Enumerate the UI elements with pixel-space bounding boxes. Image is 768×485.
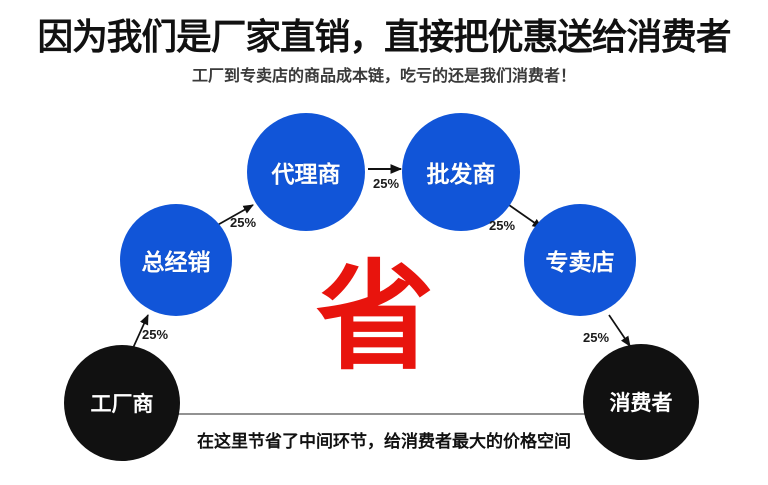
node-label-consumer: 消费者 [610, 387, 673, 417]
node-label-wholesaler: 批发商 [427, 155, 496, 189]
markup-label-agent-to-wholesaler: 25% [373, 176, 399, 191]
supply-chain-diagram: 工厂商总经销代理商批发商专卖店消费者 25%25%25%25%25% 省 [0, 0, 768, 485]
markup-label-wholesaler-to-store: 25% [489, 218, 515, 233]
node-label-agent: 代理商 [272, 155, 341, 189]
promo-banner: 因为我们是厂家直销，直接把优惠送给消费者 工厂到专卖店的商品成本链，吃亏的还是我… [0, 0, 768, 485]
node-label-factory: 工厂商 [91, 388, 154, 418]
node-store: 专卖店 [524, 204, 636, 316]
node-agent: 代理商 [247, 113, 365, 231]
node-label-distributor: 总经销 [142, 243, 211, 277]
markup-label-distributor-to-agent: 25% [230, 215, 256, 230]
markup-label-store-to-consumer: 25% [583, 330, 609, 345]
footer-caption: 在这里节省了中间环节，给消费者最大的价格空间 [0, 427, 768, 452]
arrow-store-to-consumer [609, 315, 630, 346]
node-wholesaler: 批发商 [402, 113, 520, 231]
markup-label-factory-to-distributor: 25% [142, 327, 168, 342]
node-label-store: 专卖店 [546, 243, 615, 277]
node-distributor: 总经销 [120, 204, 232, 316]
save-character: 省 [310, 258, 440, 376]
